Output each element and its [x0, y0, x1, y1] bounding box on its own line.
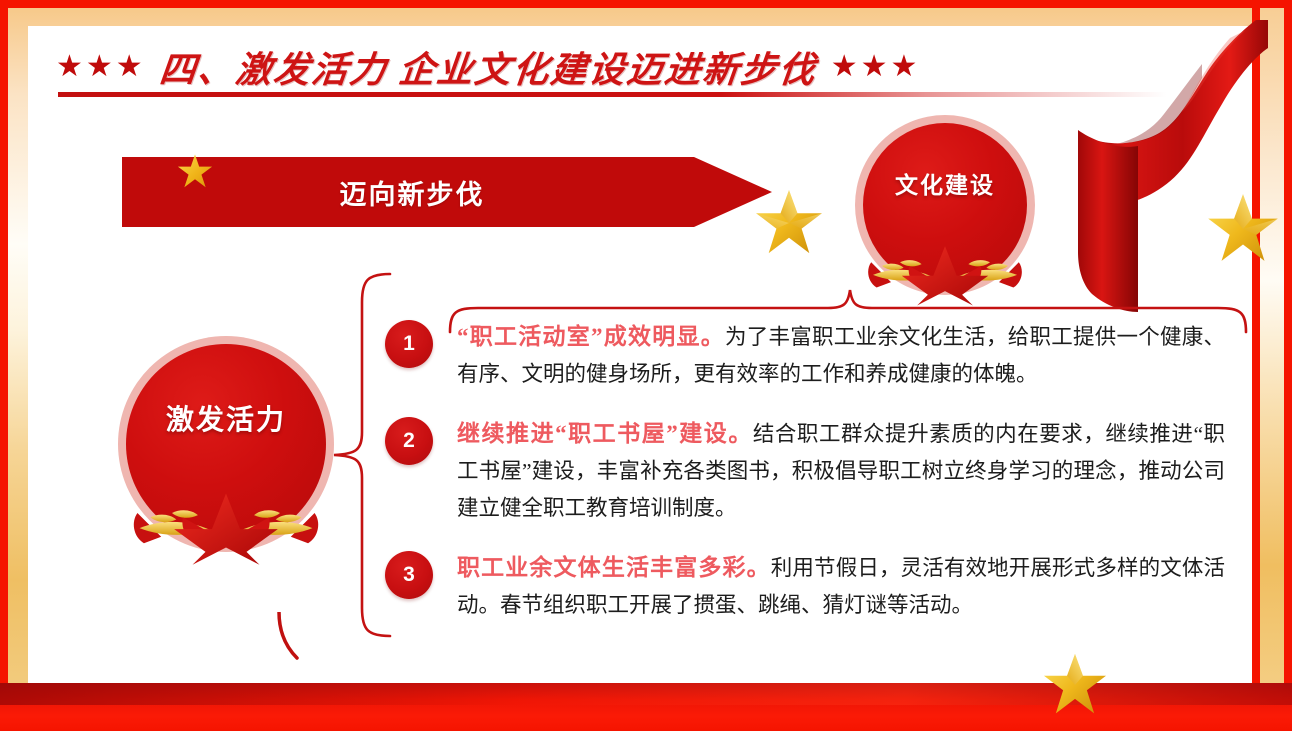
header-stars-right-icon: ★★★	[831, 52, 921, 82]
list-item-lead: 职工业余文体生活丰富多彩。	[457, 555, 771, 580]
ribbon-tail-decoration	[275, 612, 315, 662]
list-item-text: 继续推进“职工书屋”建设。结合职工群众提升素质的内在要求，继续推进“职工书屋”建…	[457, 415, 1225, 527]
list-item-text: “职工活动室”成效明显。为了丰富职工业余文化生活，给职工提供一个健康、有序、文明…	[457, 318, 1225, 393]
banner-arrow: 迈向新步伐	[122, 157, 772, 227]
list-item-lead: 继续推进“职工书屋”建设。	[457, 421, 753, 446]
red-silk-ribbon-decoration	[1078, 12, 1268, 322]
slide: ★★★ 四、激发活力 企业文化建设迈进新步伐 ★★★ 迈向新步伐	[0, 0, 1292, 731]
list-item: 3 职工业余文体生活丰富多彩。利用节假日，灵活有效地开展形式多样的文体活动。春节…	[385, 549, 1225, 624]
slide-header: ★★★ 四、激发活力 企业文化建设迈进新步伐 ★★★	[56, 38, 1056, 96]
list-item: 1 “职工活动室”成效明显。为了丰富职工业余文化生活，给职工提供一个健康、有序、…	[385, 318, 1225, 393]
list-item-text: 职工业余文体生活丰富多彩。利用节假日，灵活有效地开展形式多样的文体活动。春节组织…	[457, 549, 1225, 624]
gold-star-decor-bottom-icon	[1042, 650, 1108, 720]
wreath-star-icon	[855, 241, 1035, 307]
content-list: 1 “职工活动室”成效明显。为了丰富职工业余文化生活，给职工提供一个健康、有序、…	[385, 318, 1225, 646]
page-title: 四、激发活力 企业文化建设迈进新步伐	[157, 41, 819, 93]
medal-vitality-label: 激发活力	[118, 398, 334, 438]
medal-vitality: 激发活力	[118, 336, 334, 552]
list-item: 2 继续推进“职工书屋”建设。结合职工群众提升素质的内在要求，继续推进“职工书屋…	[385, 415, 1225, 527]
gold-star-decor-banner-icon	[754, 188, 824, 258]
list-item-number: 1	[385, 320, 433, 368]
medal-culture-label: 文化建设	[855, 166, 1035, 200]
medal-culture: 文化建设	[855, 115, 1035, 295]
list-item-number: 3	[385, 551, 433, 599]
wreath-star-icon	[118, 488, 334, 566]
gold-star-icon	[176, 153, 214, 191]
list-item-lead: “职工活动室”成效明显。	[457, 324, 725, 349]
header-stars-left-icon: ★★★	[56, 52, 146, 82]
gold-star-decor-right-icon	[1206, 192, 1280, 266]
list-item-number: 2	[385, 417, 433, 465]
